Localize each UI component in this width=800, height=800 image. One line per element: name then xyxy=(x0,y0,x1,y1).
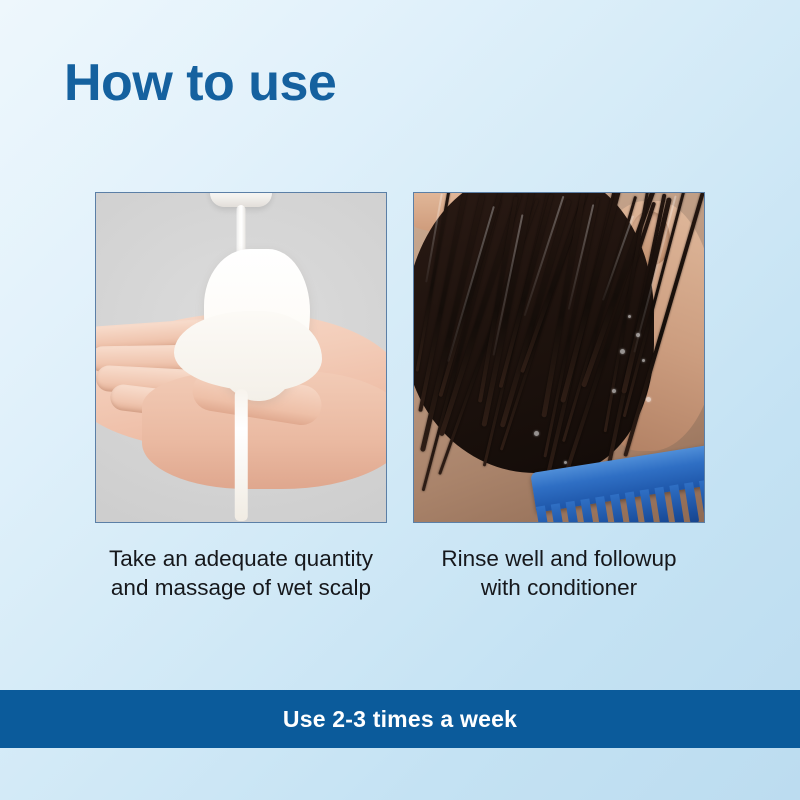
comb-tooth xyxy=(654,487,669,522)
water-droplet xyxy=(564,461,567,464)
step-item: Rinse well and followup with conditioner xyxy=(412,192,706,603)
usage-frequency-banner: Use 2-3 times a week xyxy=(0,690,800,748)
page-title: How to use xyxy=(64,56,336,111)
water-droplet xyxy=(646,397,651,402)
water-droplet xyxy=(620,349,625,354)
hand-scene-illustration xyxy=(96,193,386,522)
comb-tooth xyxy=(536,506,551,522)
water-droplet xyxy=(612,389,616,393)
comb-tooth xyxy=(566,501,581,522)
comb-tooth xyxy=(625,491,640,522)
comb-tooth xyxy=(640,489,655,522)
comb-tooth xyxy=(699,480,704,522)
comb-tooth xyxy=(551,503,566,522)
comb-tooth xyxy=(684,482,699,522)
comb-tooth xyxy=(610,494,625,522)
water-droplet xyxy=(636,333,640,337)
comb-tooth xyxy=(580,499,595,522)
step-caption: Rinse well and followup with conditioner xyxy=(441,545,676,603)
how-to-use-poster: How to use Take xyxy=(0,0,800,800)
step-item: Take an adequate quantity and massage of… xyxy=(94,192,388,603)
hair-scene-illustration xyxy=(414,193,704,522)
banner-label: Use 2-3 times a week xyxy=(283,706,517,733)
cream-drip-shape xyxy=(235,389,248,521)
water-droplet xyxy=(534,431,539,436)
water-droplet xyxy=(628,315,631,318)
comb-tooth xyxy=(595,496,610,522)
comb-tooth xyxy=(669,484,684,522)
water-droplet xyxy=(642,359,645,362)
hand-with-shampoo-photo xyxy=(95,192,387,523)
combing-wet-hair-photo xyxy=(413,192,705,523)
step-caption: Take an adequate quantity and massage of… xyxy=(109,545,373,603)
steps-row: Take an adequate quantity and massage of… xyxy=(94,192,706,603)
